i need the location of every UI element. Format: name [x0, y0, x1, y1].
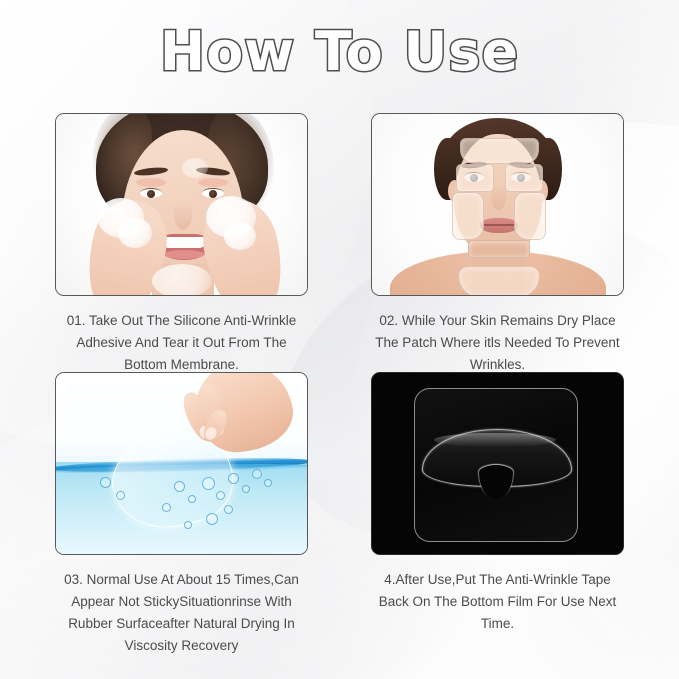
bubble: [206, 513, 218, 525]
bubble: [162, 503, 171, 512]
bubble: [174, 481, 185, 492]
bubble: [224, 505, 233, 514]
infographic-page: How To Use: [0, 0, 679, 679]
bubble: [216, 491, 225, 500]
step-04-caption: 4.After Use,Put The Anti-Wrinkle Tape Ba…: [371, 569, 624, 635]
silicone-patch-eye-right: [505, 164, 543, 192]
silicone-patch-neck: [468, 240, 530, 258]
foam-blob: [224, 222, 256, 250]
bubble: [264, 479, 272, 487]
step-03: 03. Normal Use At About 15 Times,Can App…: [55, 372, 308, 657]
foam-blob: [182, 158, 208, 178]
bubble: [188, 495, 196, 503]
step-02-caption: 02. While Your Skin Remains Dry Place Th…: [371, 310, 624, 376]
bubble: [100, 477, 111, 488]
step-04: 4.After Use,Put The Anti-Wrinkle Tape Ba…: [371, 372, 624, 635]
step-03-image-panel: [55, 372, 308, 555]
eyeshadow-right: [198, 178, 228, 187]
bubble: [116, 491, 125, 500]
bubble: [202, 477, 215, 490]
fingernail: [203, 425, 219, 442]
step-03-caption: 03. Normal Use At About 15 Times,Can App…: [55, 569, 308, 657]
mouth-shape: [480, 218, 518, 233]
eye-left: [140, 188, 162, 198]
eyeshadow-left: [136, 178, 166, 187]
step-04-image-panel: [371, 372, 624, 555]
bubble: [252, 469, 262, 479]
page-title: How To Use: [0, 22, 679, 82]
foam-blob: [118, 218, 152, 248]
eye-right: [202, 188, 224, 198]
bubble: [184, 521, 192, 529]
teeth: [162, 237, 206, 248]
step-02: 02. While Your Skin Remains Dry Place Th…: [371, 113, 624, 376]
step-02-image-panel: [371, 113, 624, 296]
foam-blob: [152, 264, 212, 296]
bubble: [242, 485, 250, 493]
step-01-image-panel: [55, 113, 308, 296]
silicone-patch-eye-left: [456, 164, 494, 192]
step-01: 01. Take Out The Silicone Anti-Wrinkle A…: [55, 113, 308, 376]
patch-gloss-highlight: [434, 433, 556, 447]
lower-lip: [163, 250, 205, 259]
bubble: [228, 473, 239, 484]
step-01-caption: 01. Take Out The Silicone Anti-Wrinkle A…: [55, 310, 308, 376]
nose-shape: [174, 200, 192, 230]
silicone-patch-cheek-right: [514, 192, 546, 240]
silicone-patch-cheek-left: [452, 192, 484, 240]
silicone-patch-forehead: [460, 138, 539, 164]
silicone-patch-chest: [458, 266, 540, 296]
